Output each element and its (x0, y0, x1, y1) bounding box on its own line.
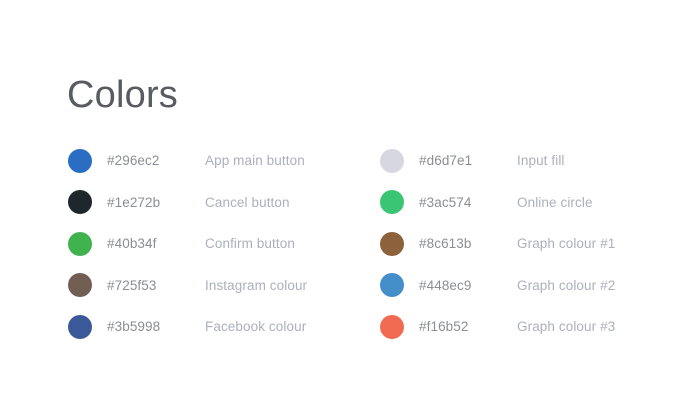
color-swatch-circle (380, 149, 404, 173)
color-usage-label: Facebook colour (205, 319, 306, 334)
swatch-row: #f16b52 Graph colour #3 (380, 306, 404, 348)
color-hex-value: #40b34f (107, 236, 157, 251)
color-usage-label: Input fill (517, 153, 565, 168)
color-swatch-circle (380, 315, 404, 339)
color-hex-value: #f16b52 (419, 319, 469, 334)
color-swatch-circle (68, 315, 92, 339)
color-swatch-circle (68, 273, 92, 297)
color-hex-value: #8c613b (419, 236, 472, 251)
color-usage-label: Graph colour #1 (517, 236, 615, 251)
color-usage-label: Confirm button (205, 236, 295, 251)
swatch-row: #8c613b Graph colour #1 (380, 223, 404, 265)
right-column: #d6d7e1 Input fill #3ac574 Online circle… (380, 140, 404, 348)
swatch-row: #d6d7e1 Input fill (380, 140, 404, 182)
color-usage-label: Instagram colour (205, 278, 307, 293)
color-hex-value: #448ec9 (419, 278, 472, 293)
page-title: Colors (67, 72, 178, 118)
color-usage-label: Cancel button (205, 195, 290, 210)
color-swatch-circle (380, 273, 404, 297)
color-hex-value: #725f53 (107, 278, 157, 293)
swatch-row: #448ec9 Graph colour #2 (380, 265, 404, 307)
swatch-row: #296ec2 App main button (68, 140, 92, 182)
color-swatch-circle (68, 232, 92, 256)
left-column: #296ec2 App main button #1e272b Cancel b… (68, 140, 92, 348)
color-swatch-circle (380, 190, 404, 214)
color-hex-value: #3ac574 (419, 195, 472, 210)
color-usage-label: Graph colour #3 (517, 319, 615, 334)
swatch-row: #40b34f Confirm button (68, 223, 92, 265)
color-usage-label: Online circle (517, 195, 593, 210)
swatch-row: #3b5998 Facebook colour (68, 306, 92, 348)
color-usage-label: App main button (205, 153, 305, 168)
color-usage-label: Graph colour #2 (517, 278, 615, 293)
color-hex-value: #3b5998 (107, 319, 160, 334)
swatch-row: #3ac574 Online circle (380, 182, 404, 224)
color-swatch-circle (68, 149, 92, 173)
swatch-row: #725f53 Instagram colour (68, 265, 92, 307)
color-hex-value: #1e272b (107, 195, 160, 210)
swatch-row: #1e272b Cancel button (68, 182, 92, 224)
color-swatch-circle (380, 232, 404, 256)
color-palette-slide: Colors #296ec2 App main button #1e272b C… (0, 0, 700, 420)
color-swatch-circle (68, 190, 92, 214)
color-hex-value: #d6d7e1 (419, 153, 472, 168)
color-hex-value: #296ec2 (107, 153, 160, 168)
